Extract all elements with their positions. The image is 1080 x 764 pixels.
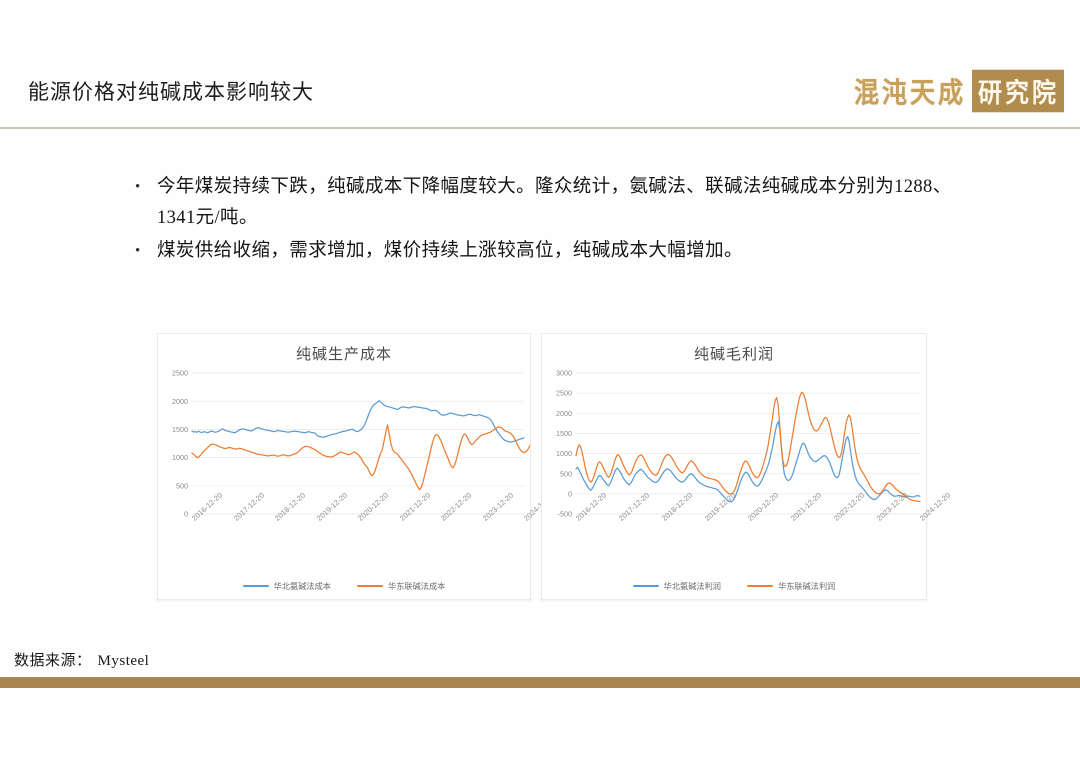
logo-seal-text: 混沌天成 [854, 71, 966, 111]
y-tick-label: 1500 [172, 425, 188, 434]
chart-x-axis: 2016-12-202017-12-202018-12-202019-12-20… [158, 514, 530, 562]
y-tick-label: 500 [560, 469, 572, 478]
chart-series-line [576, 392, 920, 501]
chart-series-line [192, 401, 524, 442]
legend-item[interactable]: 华北氨碱法成本 [243, 580, 331, 592]
legend-item[interactable]: 华东联碱法成本 [357, 580, 445, 592]
y-tick-label: 1000 [172, 453, 188, 462]
bullet-text: 今年煤炭持续下跌，纯碱成本下降幅度较大。隆众统计，氨碱法、联碱法纯碱成本分别为1… [157, 172, 965, 234]
list-item: • 煤炭供给收缩，需求增加，煤价持续上涨较高位，纯碱成本大幅增加。 [135, 236, 965, 267]
y-tick-label: 3000 [556, 369, 572, 378]
chart-legend: 华北氨碱法利润华东联碱法利润 [542, 580, 926, 592]
y-tick-label: 2500 [172, 369, 188, 378]
logo-box-text: 研究院 [972, 70, 1064, 113]
y-tick-label: 1500 [556, 429, 572, 438]
bullet-marker: • [135, 172, 157, 203]
legend-swatch [747, 585, 773, 587]
y-tick-label: 0 [568, 489, 572, 498]
data-source-label: 数据来源： [14, 653, 92, 669]
data-source: 数据来源：Mysteel [14, 649, 149, 670]
list-item: • 今年煤炭持续下跌，纯碱成本下降幅度较大。隆众统计，氨碱法、联碱法纯碱成本分别… [135, 172, 965, 234]
legend-swatch [243, 585, 269, 587]
y-tick-label: 1000 [556, 449, 572, 458]
legend-item[interactable]: 华东联碱法利润 [747, 580, 835, 592]
page-title: 能源价格对纯碱成本影响较大 [28, 76, 314, 106]
brand-logo: 混沌天成 研究院 [854, 72, 1064, 110]
footer-accent-bar [0, 677, 1080, 688]
slide: 能源价格对纯碱成本影响较大 混沌天成 研究院 • 今年煤炭持续下跌，纯碱成本下降… [0, 0, 1080, 764]
chart-panel-profit: 纯碱毛利润 300025002000150010005000-500 2016-… [541, 333, 927, 600]
legend-item[interactable]: 华北氨碱法利润 [633, 580, 721, 592]
bullet-list: • 今年煤炭持续下跌，纯碱成本下降幅度较大。隆众统计，氨碱法、联碱法纯碱成本分别… [135, 172, 965, 269]
bullet-marker: • [135, 236, 157, 267]
chart-title: 纯碱毛利润 [542, 343, 926, 364]
chart-x-axis: 2016-12-202017-12-202018-12-202019-12-20… [542, 514, 926, 562]
chart-panel-cost: 纯碱生产成本 25002000150010005000 2016-12-2020… [157, 333, 531, 600]
legend-label: 华东联碱法成本 [388, 580, 445, 592]
legend-swatch [357, 585, 383, 587]
header-divider [0, 127, 1080, 129]
legend-swatch [633, 585, 659, 587]
y-tick-label: 2500 [556, 389, 572, 398]
bullet-text: 煤炭供给收缩，需求增加，煤价持续上涨较高位，纯碱成本大幅增加。 [157, 236, 965, 267]
y-tick-label: 2000 [172, 397, 188, 406]
y-tick-label: 500 [176, 481, 188, 490]
y-tick-label: 2000 [556, 409, 572, 418]
slide-header: 能源价格对纯碱成本影响较大 混沌天成 研究院 [0, 60, 1080, 130]
chart-title: 纯碱生产成本 [158, 343, 530, 364]
legend-label: 华东联碱法利润 [778, 580, 835, 592]
legend-label: 华北氨碱法成本 [274, 580, 331, 592]
legend-label: 华北氨碱法利润 [664, 580, 721, 592]
chart-legend: 华北氨碱法成本华东联碱法成本 [158, 580, 530, 592]
data-source-value: Mysteel [98, 653, 150, 669]
